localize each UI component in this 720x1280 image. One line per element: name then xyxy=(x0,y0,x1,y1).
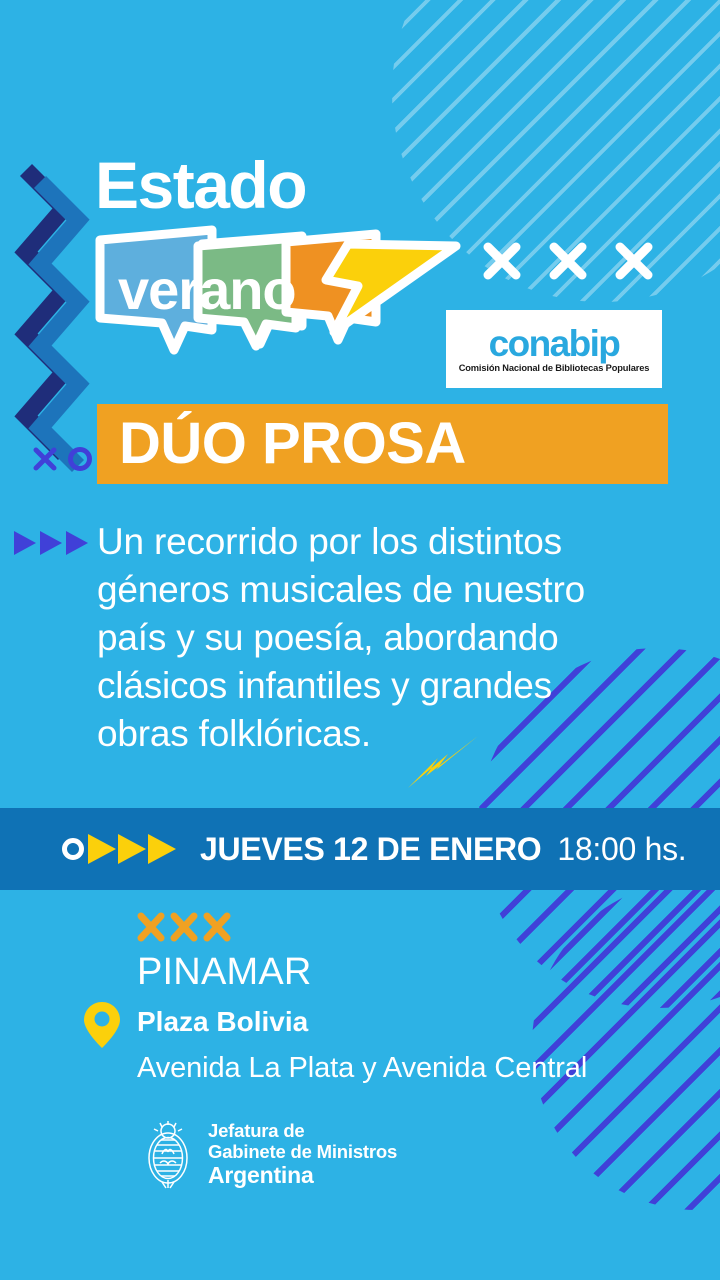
venue-place: Plaza Bolivia xyxy=(137,1008,308,1036)
triangle-arrows-purple-decoration xyxy=(10,527,90,559)
circle-and-arrows-decoration xyxy=(60,831,182,867)
show-title-band: DÚO PROSA xyxy=(97,404,668,484)
conabip-subtitle: Comisión Nacional de Bibliotecas Popular… xyxy=(459,364,650,373)
event-poster: Estado verano conabip Comisión Nacional … xyxy=(0,0,720,1280)
x-marks-orange-decoration xyxy=(135,908,233,946)
government-country: Argentina xyxy=(208,1163,397,1189)
government-label: Jefatura de Gabinete de Ministros Argent… xyxy=(208,1121,397,1189)
event-date: JUEVES 12 DE ENERO xyxy=(200,831,541,868)
conabip-logo: conabip Comisión Nacional de Bibliotecas… xyxy=(446,310,662,388)
show-description: Un recorrido por los distintos géneros m… xyxy=(97,518,617,758)
diagonal-stripes-lower-right-decoration xyxy=(532,880,720,1210)
event-time: 18:00 hs. xyxy=(557,831,686,868)
government-footer: Jefatura de Gabinete de Ministros Argent… xyxy=(140,1118,397,1192)
venue-address: Avenida La Plata y Avenida Central xyxy=(137,1054,587,1083)
season-word: verano xyxy=(118,262,296,318)
government-line-2: Gabinete de Ministros xyxy=(208,1142,397,1163)
x-marks-white-decoration xyxy=(478,235,658,287)
government-line-1: Jefatura de xyxy=(208,1121,397,1142)
x-o-decoration xyxy=(30,440,100,476)
argentina-coat-of-arms-icon xyxy=(140,1118,196,1192)
lightning-bolt-decoration xyxy=(404,732,482,794)
program-title: Estado xyxy=(95,152,306,218)
conabip-wordmark: conabip xyxy=(489,325,620,362)
show-title: DÚO PROSA xyxy=(119,415,466,473)
venue-city: PINAMAR xyxy=(137,953,312,991)
schedule-band: JUEVES 12 DE ENERO 18:00 hs. xyxy=(0,808,720,890)
map-pin-icon xyxy=(82,1000,122,1050)
